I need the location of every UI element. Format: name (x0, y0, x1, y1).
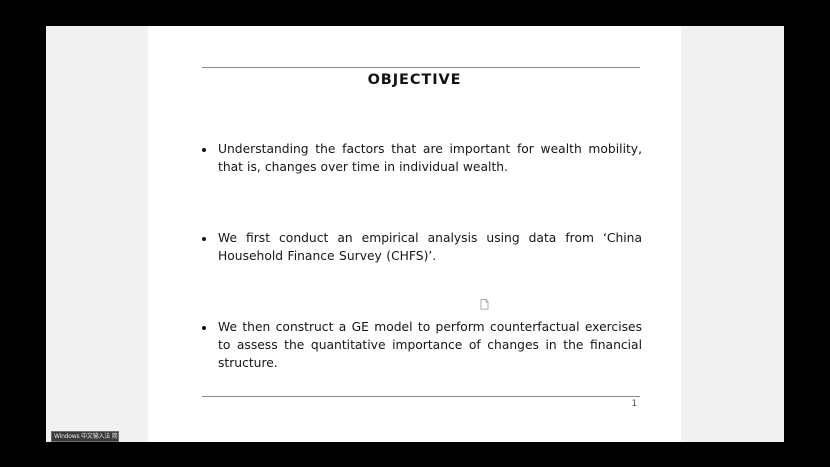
pdf-viewer-area[interactable]: OBJECTIVE Understanding the factors that… (46, 26, 784, 442)
presentation-screen: OBJECTIVE Understanding the factors that… (0, 0, 830, 467)
list-item-text: Understanding the factors that are impor… (218, 141, 642, 176)
slide-page-number: 1 (148, 399, 637, 409)
list-item-text: We then construct a GE model to perform … (218, 319, 642, 372)
list-item-text: We first conduct an empirical analysis u… (218, 230, 642, 265)
slide-page[interactable]: OBJECTIVE Understanding the factors that… (148, 26, 681, 442)
list-item: Understanding the factors that are impor… (202, 141, 642, 176)
title-rule-top (202, 67, 640, 68)
footer-rule-bottom (202, 396, 640, 397)
bullet-list: Understanding the factors that are impor… (202, 141, 642, 372)
bullet-dot-icon (202, 148, 206, 152)
drag-page-cursor-icon (480, 295, 489, 306)
ime-status-overlay[interactable]: Windows 中文输入法 简体 (51, 431, 119, 442)
list-item: We then construct a GE model to perform … (202, 319, 642, 372)
list-item: We first conduct an empirical analysis u… (202, 230, 642, 265)
bullet-dot-icon (202, 237, 206, 241)
bullet-dot-icon (202, 326, 206, 330)
page-title: OBJECTIVE (148, 72, 681, 88)
